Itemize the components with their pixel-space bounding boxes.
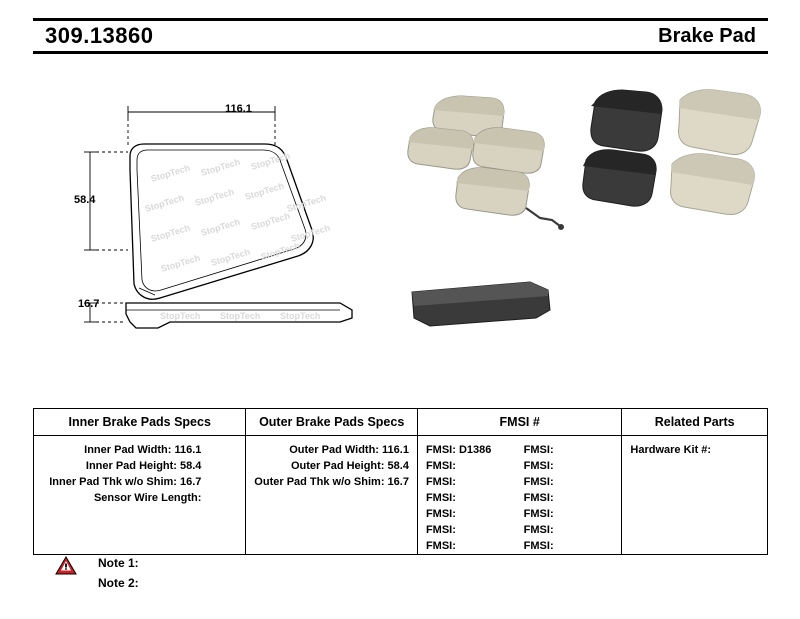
fmsi-line: FMSI: (426, 490, 524, 506)
table-header-fmsi: FMSI # (418, 409, 622, 435)
spec-line: Sensor Wire Length: (34, 490, 245, 506)
spec-line: Inner Pad Height: 58.4 (34, 458, 245, 474)
drawing-area: StopTech StopTech StopTech StopTech Stop… (0, 60, 800, 390)
wear-sensor-wire (526, 208, 560, 226)
fmsi-line: FMSI: (426, 458, 524, 474)
related-part-line: Hardware Kit #: (622, 442, 767, 458)
table-body-row: Inner Pad Width: 116.1 Inner Pad Height:… (34, 436, 767, 554)
watermark-text: StopTech (160, 311, 200, 321)
table-header-row: Inner Brake Pads Specs Outer Brake Pads … (34, 409, 767, 436)
fmsi-line: FMSI: (524, 522, 622, 538)
table-header-related-parts: Related Parts (622, 409, 767, 435)
specifications-table: Inner Brake Pads Specs Outer Brake Pads … (33, 408, 768, 555)
related-parts-cell: Hardware Kit #: (622, 436, 767, 554)
fmsi-line: FMSI: (426, 474, 524, 490)
fmsi-line: FMSI: (524, 442, 622, 458)
fmsi-line: FMSI: (426, 522, 524, 538)
fmsi-column-left: FMSI: D1386 FMSI: FMSI: FMSI: FMSI: FMSI… (426, 442, 524, 554)
fmsi-cell: FMSI: D1386 FMSI: FMSI: FMSI: FMSI: FMSI… (418, 436, 622, 554)
fmsi-line: FMSI: (426, 506, 524, 522)
watermark-text: StopTech (220, 311, 260, 321)
spec-line: Inner Pad Thk w/o Shim: 16.7 (34, 474, 245, 490)
fmsi-line: FMSI: D1386 (426, 442, 524, 458)
outer-pad-specs-cell: Outer Pad Width: 116.1 Outer Pad Height:… (246, 436, 418, 554)
fmsi-column-right: FMSI: FMSI: FMSI: FMSI: FMSI: FMSI: FMSI… (524, 442, 622, 554)
watermark-text: StopTech (280, 311, 320, 321)
table-header-outer-specs: Outer Brake Pads Specs (246, 409, 418, 435)
height-dimension-label: 58.4 (74, 194, 95, 206)
width-dimension-label: 116.1 (225, 103, 252, 115)
pad-side-watermark-group: StopTech StopTech StopTech (160, 311, 320, 321)
part-number: 309.13860 (33, 23, 154, 49)
fmsi-line: FMSI: (524, 506, 622, 522)
wear-sensor-connector (558, 224, 564, 230)
spec-line: Outer Pad Thk w/o Shim: 16.7 (246, 474, 417, 490)
page-header: 309.13860 Brake Pad (33, 18, 768, 54)
fmsi-line: FMSI: (524, 458, 622, 474)
inner-pad-specs-cell: Inner Pad Width: 116.1 Inner Pad Height:… (34, 436, 246, 554)
brake-pad-product-photos (400, 60, 790, 390)
fmsi-line: FMSI: (524, 474, 622, 490)
pad-photo-group-right (583, 90, 761, 215)
brake-pad-spec-sheet: 309.13860 Brake Pad (0, 0, 800, 619)
thickness-dimension-label: 16.7 (78, 298, 99, 310)
warning-triangle-icon (55, 556, 77, 575)
document-type-label: Brake Pad (658, 25, 768, 48)
note-2: Note 2: (55, 573, 355, 593)
fmsi-line: FMSI: (426, 538, 524, 554)
spec-line: Inner Pad Width: 116.1 (34, 442, 245, 458)
width-dimension (128, 106, 275, 148)
pad-photo-edge-view (412, 282, 550, 326)
fmsi-line: FMSI: (524, 538, 622, 554)
spec-line: Outer Pad Height: 58.4 (246, 458, 417, 474)
table-header-inner-specs: Inner Brake Pads Specs (34, 409, 246, 435)
pad-photo-group-left (408, 96, 564, 230)
notes-section: Note 1: Note 2: (55, 553, 355, 593)
fmsi-line: FMSI: (524, 490, 622, 506)
note-1: Note 1: (55, 553, 355, 573)
spec-line: Outer Pad Width: 116.1 (246, 442, 417, 458)
